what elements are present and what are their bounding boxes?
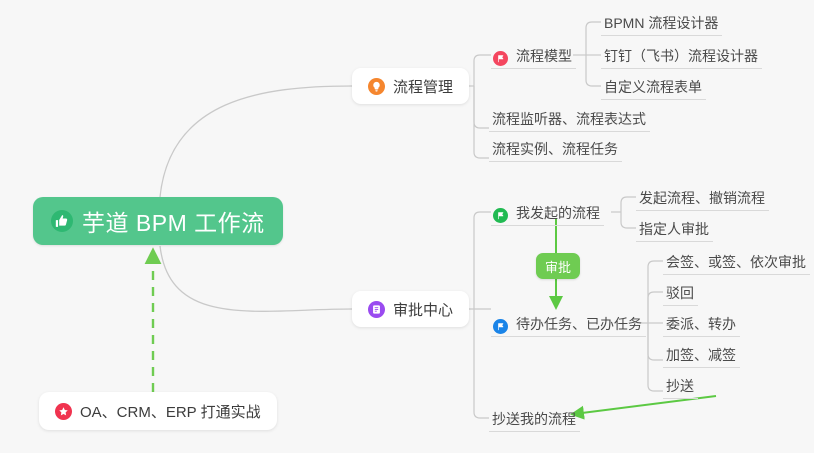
node-label-dingtalk-feishu-designer: 钉钉（飞书）流程设计器 (604, 46, 758, 66)
branch-label-process-management: 流程管理 (393, 76, 453, 97)
node-add-remove-sign[interactable]: 加签、减签 (663, 341, 740, 368)
node-assignee-approval[interactable]: 指定人审批 (636, 215, 713, 242)
node-countersign-or-sequential[interactable]: 会签、或签、依次审批 (663, 248, 810, 275)
mindmap-canvas: 芋道 BPM 工作流 流程管理 流程模型 BPMN 流程设计器 钉钉（飞书）流程… (0, 0, 814, 453)
approval-tag-badge[interactable]: 审批 (536, 253, 580, 279)
node-label-add-remove-sign: 加签、减签 (666, 345, 736, 365)
node-my-started-process[interactable]: 我发起的流程 (491, 199, 604, 226)
node-label-custom-process-form: 自定义流程表单 (604, 77, 702, 97)
thumbs-up-icon (51, 210, 73, 232)
node-label-integration-practice: OA、CRM、ERP 打通实战 (80, 401, 261, 422)
node-label-process-model: 流程模型 (516, 46, 572, 66)
node-label-reject: 驳回 (666, 283, 694, 303)
link-pm-to-process-model (474, 55, 491, 86)
node-custom-process-form[interactable]: 自定义流程表单 (601, 73, 706, 100)
node-label-delegate-transfer: 委派、转办 (666, 314, 736, 334)
link-ac-to-cc-mine (474, 309, 489, 418)
approval-tag-label: 审批 (545, 257, 571, 276)
link-ac-to-my-started (474, 212, 491, 309)
node-label-process-listener-expression: 流程监听器、流程表达式 (492, 109, 646, 129)
branch-label-approval-center: 审批中心 (393, 299, 453, 320)
link-todo-to-reject (648, 292, 663, 323)
link-mystart-to-assignee (621, 212, 636, 228)
node-start-cancel-process[interactable]: 发起流程、撤销流程 (636, 184, 769, 211)
node-label-cc-to-me-process: 抄送我的流程 (492, 409, 576, 429)
link-pm-to-instance (474, 86, 489, 158)
branch-node-approval-center[interactable]: 审批中心 (352, 291, 469, 327)
node-label-carbon-copy: 抄送 (666, 376, 694, 396)
link-model-to-bpmn (586, 22, 601, 55)
root-node[interactable]: 芋道 BPM 工作流 (33, 197, 283, 245)
node-bpmn-designer[interactable]: BPMN 流程设计器 (601, 9, 722, 36)
branch-node-process-management[interactable]: 流程管理 (352, 68, 469, 104)
node-carbon-copy[interactable]: 抄送 (663, 372, 698, 399)
node-dingtalk-feishu-designer[interactable]: 钉钉（飞书）流程设计器 (601, 42, 762, 69)
node-todo-done-task[interactable]: 待办任务、已办任务 (491, 310, 646, 337)
node-label-countersign-or-sequential: 会签、或签、依次审批 (666, 252, 806, 272)
node-process-model[interactable]: 流程模型 (491, 42, 576, 69)
star-icon (55, 403, 72, 420)
node-delegate-transfer[interactable]: 委派、转办 (663, 310, 740, 337)
clipboard-icon (368, 301, 385, 318)
link-todo-to-cc (648, 323, 663, 391)
link-model-to-custom-form (586, 55, 601, 86)
node-label-todo-done-task: 待办任务、已办任务 (516, 314, 642, 334)
node-integration-practice[interactable]: OA、CRM、ERP 打通实战 (39, 392, 277, 430)
node-reject[interactable]: 驳回 (663, 279, 698, 306)
flag-icon (493, 208, 508, 223)
node-cc-to-me-process[interactable]: 抄送我的流程 (489, 405, 580, 432)
root-label: 芋道 BPM 工作流 (82, 204, 265, 238)
flag-icon (493, 51, 508, 66)
link-todo-to-addsign (648, 323, 663, 360)
link-pm-to-listener (474, 86, 489, 128)
node-label-my-started-process: 我发起的流程 (516, 203, 600, 223)
link-mystart-to-start-cancel (621, 197, 636, 212)
node-label-bpmn-designer: BPMN 流程设计器 (604, 13, 718, 33)
flag-icon (493, 319, 508, 334)
lightbulb-icon (368, 78, 385, 95)
node-process-listener-expression[interactable]: 流程监听器、流程表达式 (489, 105, 650, 132)
node-process-instance-task[interactable]: 流程实例、流程任务 (489, 135, 622, 162)
link-root-to-process-management (160, 86, 352, 197)
node-label-start-cancel-process: 发起流程、撤销流程 (639, 188, 765, 208)
link-root-to-approval-center (160, 246, 352, 311)
node-label-assignee-approval: 指定人审批 (639, 219, 709, 239)
node-label-process-instance-task: 流程实例、流程任务 (492, 139, 618, 159)
link-todo-to-countersign (648, 261, 663, 323)
